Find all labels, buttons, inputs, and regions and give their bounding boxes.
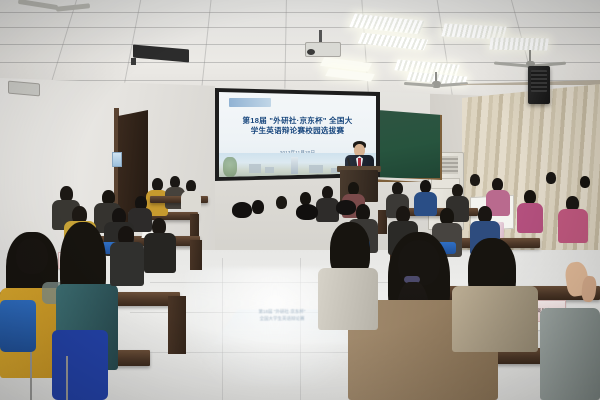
audience-head (296, 204, 318, 220)
vent-sensor (131, 58, 136, 65)
desk-side-panel (190, 214, 199, 236)
audience-head (524, 190, 536, 204)
slide-building (265, 167, 274, 173)
wall-speaker (528, 66, 550, 104)
classroom-photo: 第18届 "外研社·京东杯" 全国大 学生英语辩论赛校园选拔赛 2013年11月… (0, 0, 600, 400)
audience-body (144, 233, 176, 273)
chair-back (0, 300, 36, 352)
audience-head (546, 172, 556, 184)
audience-head (470, 174, 480, 186)
audience-head (276, 196, 287, 209)
audience-head (252, 200, 264, 214)
audience-body (452, 286, 538, 352)
audience-head (336, 200, 356, 215)
light-panel (489, 38, 549, 51)
audience-head (580, 176, 590, 188)
audience-body (414, 192, 437, 216)
slide-logo (229, 98, 271, 107)
slide-title-line-2: 学生英语辩论赛校园选拔赛 (225, 126, 370, 136)
audience-head (16, 238, 48, 274)
slide-tower-building (291, 157, 298, 174)
desk-side-panel (168, 296, 186, 354)
audience-head (232, 202, 252, 218)
slide-tree (223, 157, 237, 177)
projector-lens-icon (307, 49, 315, 55)
audience-body (540, 308, 600, 400)
chair-leg (30, 352, 32, 400)
ceiling-air-vent (133, 45, 189, 63)
slide-building (249, 164, 261, 173)
slide-title-line-1: 第18届 "外研社·京东杯" 全国大 (225, 116, 370, 126)
desk-side-panel (190, 240, 202, 270)
chair-leg (66, 356, 68, 400)
slide-building (309, 165, 323, 173)
audience-body (181, 191, 201, 211)
audience-pants (52, 330, 108, 400)
audience-body (318, 268, 378, 330)
audience-body (517, 203, 543, 233)
slide-title: 第18届 "外研社·京东杯" 全国大 学生英语辩论赛校园选拔赛 (225, 116, 370, 136)
door-sign (112, 152, 122, 167)
audience-body (110, 242, 144, 286)
ceiling-projector-secondary (8, 81, 40, 97)
audience-body (558, 209, 588, 243)
